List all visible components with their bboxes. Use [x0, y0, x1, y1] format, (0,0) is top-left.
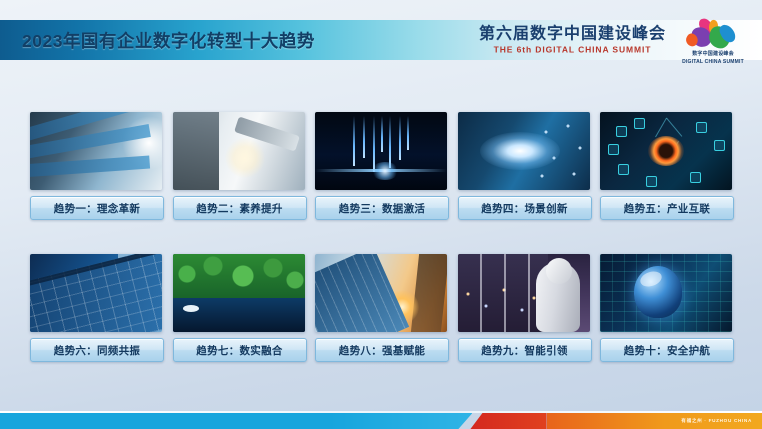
- trend-card[interactable]: 趋势七：数实融合: [173, 254, 305, 364]
- trend-card[interactable]: 趋势五：产业互联: [600, 112, 732, 222]
- forest-canopy-icon: [173, 254, 305, 298]
- ribbon-shape-icon: [30, 156, 150, 179]
- trend-card[interactable]: 趋势四：场景创新: [458, 112, 590, 222]
- trend-label: 趋势十：安全护航: [624, 343, 710, 358]
- city-skyline-icon: [458, 254, 548, 332]
- trend-thumbnail-7: [173, 254, 305, 332]
- trend-label: 趋势五：产业互联: [624, 201, 710, 216]
- data-beam-icon: [389, 116, 391, 168]
- network-node-icon: [618, 164, 629, 175]
- data-beam-icon: [407, 116, 409, 150]
- trend-thumbnail-4: [458, 112, 590, 190]
- trend-thumbnail-6: [30, 254, 162, 332]
- trend-label: 趋势七：数实融合: [196, 343, 282, 358]
- slide-footer: 有福之州 · FUZHOU CHINA: [0, 413, 762, 429]
- data-beam-icon: [381, 116, 383, 152]
- trend-label: 趋势九：智能引领: [481, 343, 567, 358]
- network-node-icon: [696, 122, 707, 133]
- trend-caption: 趋势九：智能引领: [458, 338, 592, 362]
- trend-label: 趋势二：素养提升: [196, 201, 282, 216]
- river-icon: [173, 294, 305, 332]
- footer-orange-bar: 有福之州 · FUZHOU CHINA: [547, 413, 762, 429]
- trend-thumbnail-10: [600, 254, 732, 332]
- trend-card[interactable]: 趋势一：理念革新: [30, 112, 162, 222]
- trend-label: 趋势三：数据激活: [339, 201, 425, 216]
- data-beam-icon: [399, 116, 401, 160]
- network-node-icon: [608, 144, 619, 155]
- trend-caption: 趋势二：素养提升: [173, 196, 307, 220]
- network-node-icon: [616, 126, 627, 137]
- network-node-icon: [646, 176, 657, 187]
- trend-label: 趋势四：场景创新: [481, 201, 567, 216]
- trend-card[interactable]: 趋势八：强基赋能: [315, 254, 447, 364]
- building-silhouette-icon: [411, 254, 447, 332]
- boat-icon: [183, 305, 199, 312]
- trend-label: 趋势六：同频共振: [54, 343, 140, 358]
- trend-thumbnail-5: [600, 112, 732, 190]
- slide-header: 2023年国有企业数字化转型十大趋势 第六届数字中国建设峰会 THE 6th D…: [0, 20, 762, 60]
- presentation-slide: 2023年国有企业数字化转型十大趋势 第六届数字中国建设峰会 THE 6th D…: [0, 0, 762, 429]
- trend-caption: 趋势十：安全护航: [600, 338, 734, 362]
- summit-title-en: THE 6th DIGITAL CHINA SUMMIT: [479, 45, 666, 54]
- trend-card[interactable]: 趋势三：数据激活: [315, 112, 447, 222]
- connector-line-icon: [655, 118, 667, 138]
- cloud-hub-icon: [648, 136, 684, 166]
- network-node-icon: [714, 140, 725, 151]
- trend-caption: 趋势一：理念革新: [30, 196, 164, 220]
- core-glow-icon: [371, 162, 399, 180]
- trend-caption: 趋势三：数据激活: [315, 196, 449, 220]
- trend-thumbnail-8: [315, 254, 447, 332]
- trend-card[interactable]: 趋势六：同频共振: [30, 254, 162, 364]
- logo-caption-cn: 数字中国建设峰会: [676, 51, 750, 58]
- light-burst-icon: [480, 132, 560, 170]
- robot-head-icon: [546, 258, 572, 284]
- data-beam-icon: [353, 116, 355, 166]
- footer-red-bar: [470, 413, 546, 429]
- trend-label: 趋势一：理念革新: [54, 201, 140, 216]
- footer-blue-bar: [0, 413, 472, 429]
- window-mullion-icon: [504, 254, 506, 332]
- connector-line-icon: [666, 118, 682, 137]
- trend-thumbnail-2: [173, 112, 305, 190]
- footer-location-text: 有福之州 · FUZHOU CHINA: [681, 418, 752, 424]
- trend-card-grid: 趋势一：理念革新 趋势二：素养提升: [30, 112, 732, 364]
- trend-thumbnail-1: [30, 112, 162, 190]
- summit-logo: 数字中国建设峰会 DIGITAL CHINA SUMMIT: [676, 18, 750, 62]
- window-mullion-icon: [480, 254, 482, 332]
- network-node-icon: [690, 172, 701, 183]
- trend-caption: 趋势五：产业互联: [600, 196, 734, 220]
- trend-card[interactable]: 趋势十：安全护航: [600, 254, 732, 364]
- summit-branding: 第六届数字中国建设峰会 THE 6th DIGITAL CHINA SUMMIT: [479, 26, 666, 54]
- trend-thumbnail-9: [458, 254, 590, 332]
- trend-thumbnail-3: [315, 112, 447, 190]
- trend-caption: 趋势四：场景创新: [458, 196, 592, 220]
- logo-caption-en: DIGITAL CHINA SUMMIT: [676, 59, 750, 66]
- trend-caption: 趋势七：数实融合: [173, 338, 307, 362]
- trend-caption: 趋势六：同频共振: [30, 338, 164, 362]
- network-node-icon: [634, 118, 645, 129]
- trend-card[interactable]: 趋势二：素养提升: [173, 112, 305, 222]
- trend-card[interactable]: 趋势九：智能引领: [458, 254, 590, 364]
- machine-panel-icon: [173, 112, 219, 190]
- page-title: 2023年国有企业数字化转型十大趋势: [22, 28, 315, 53]
- spark-icon: [225, 138, 265, 178]
- data-beam-icon: [363, 116, 365, 158]
- window-mullion-icon: [528, 254, 530, 332]
- summit-logo-mark: [676, 18, 750, 50]
- summit-title-cn: 第六届数字中国建设峰会: [479, 26, 666, 42]
- trend-label: 趋势八：强基赋能: [339, 343, 425, 358]
- trend-caption: 趋势八：强基赋能: [315, 338, 449, 362]
